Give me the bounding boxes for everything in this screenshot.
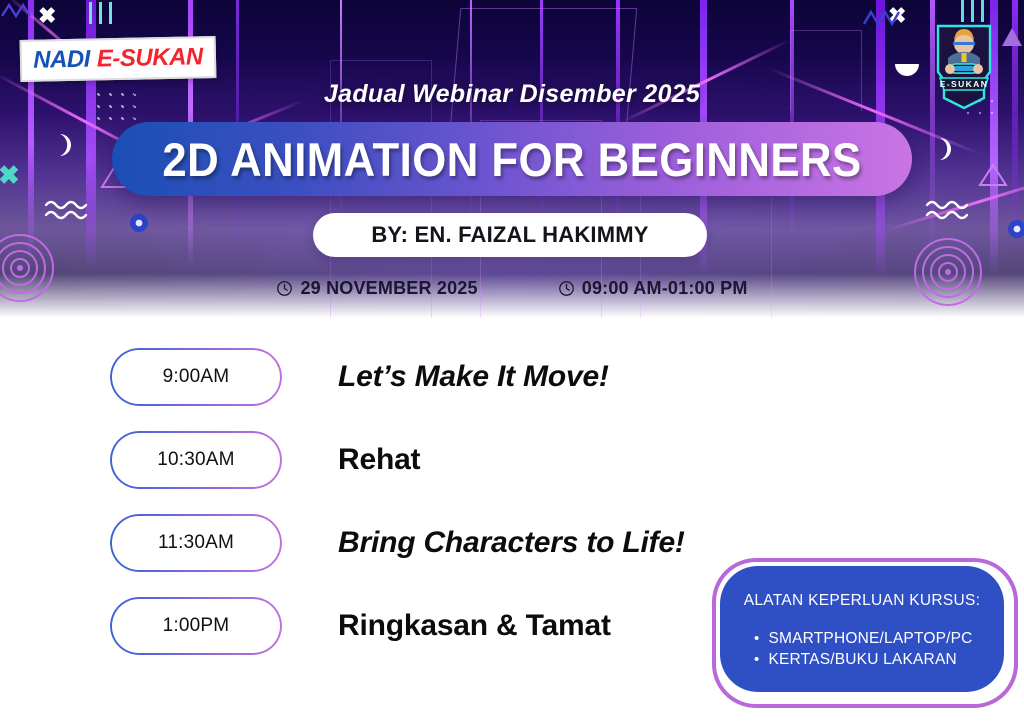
event-date: 29 NOVEMBER 2025 (276, 278, 477, 299)
esukan-mascot-icon: E-SUKAN (928, 20, 1000, 112)
crescent-icon (936, 136, 958, 167)
session-title: Let’s Make It Move! (338, 360, 609, 394)
event-meta-row: 29 NOVEMBER 2025 09:00 AM-01:00 PM (0, 278, 1024, 299)
bullet-icon: • (754, 628, 759, 649)
triangle-icon (1000, 26, 1024, 53)
time-label: 10:30AM (157, 449, 234, 471)
bars-icon (88, 2, 122, 29)
wave-lines-icon (925, 198, 977, 224)
requirements-item: • SMARTPHONE/LAPTOP/PC (754, 628, 973, 649)
requirements-item: • KERTAS/BUKU LAKARAN (754, 649, 973, 670)
logo-text-nadi: NADI (33, 46, 90, 75)
mascot-label: E-SUKAN (940, 79, 989, 89)
time-pill: 9:00AM (110, 348, 282, 406)
session-title: Rehat (338, 443, 420, 477)
logo-text-esukan: E-SUKAN (97, 43, 203, 73)
zigzag-icon (862, 6, 912, 35)
nadi-esukan-logo: NADI E-SUKAN (20, 36, 217, 82)
bullet-icon: • (754, 649, 759, 670)
session-title: Ringkasan & Tamat (338, 609, 611, 643)
requirements-box: ALATAN KEPERLUAN KURSUS: • SMARTPHONE/LA… (720, 566, 1004, 692)
wireframe-shape (450, 8, 638, 129)
time-label: 1:00PM (163, 615, 230, 637)
requirements-list: • SMARTPHONE/LAPTOP/PC • KERTAS/BUKU LAK… (754, 628, 973, 670)
clock-icon (558, 280, 575, 297)
hero-banner: ✖ ✖ (0, 0, 1024, 318)
ring-dot-icon (1006, 218, 1024, 245)
event-date-label: 29 NOVEMBER 2025 (300, 278, 477, 299)
time-pill: 1:00PM (110, 597, 282, 655)
ring-dot-icon (128, 212, 150, 239)
schedule-row: 10:30AM Rehat (110, 431, 420, 489)
requirements-item-label: KERTAS/BUKU LAKARAN (768, 649, 956, 670)
event-time: 09:00 AM-01:00 PM (558, 278, 748, 299)
event-time-label: 09:00 AM-01:00 PM (582, 278, 748, 299)
zigzag-icon (0, 0, 46, 27)
page-title: 2D ANIMATION FOR BEGINNERS (140, 122, 884, 196)
poster-canvas: ✖ ✖ (0, 0, 1024, 724)
concentric-circles-icon (912, 236, 984, 313)
clock-icon (276, 280, 293, 297)
time-pill: 11:30AM (110, 514, 282, 572)
schedule-row: 9:00AM Let’s Make It Move! (110, 348, 609, 406)
kicker-text: Jadual Webinar Disember 2025 (0, 80, 1024, 109)
wave-lines-icon (44, 198, 96, 224)
requirements-item-label: SMARTPHONE/LAPTOP/PC (768, 628, 972, 649)
schedule-row: 1:00PM Ringkasan & Tamat (110, 597, 611, 655)
requirements-title: ALATAN KEPERLUAN KURSUS: (720, 592, 1004, 610)
time-pill: 10:30AM (110, 431, 282, 489)
speaker-name: BY: EN. FAIZAL HAKIMMY (371, 222, 648, 248)
time-label: 11:30AM (158, 532, 234, 554)
session-title: Bring Characters to Life! (338, 526, 685, 560)
cross-icon: ✖ (0, 162, 20, 188)
time-label: 9:00AM (163, 366, 230, 388)
crescent-icon (56, 132, 78, 163)
speaker-pill: BY: EN. FAIZAL HAKIMMY (313, 213, 707, 257)
triangle-outline-icon (978, 162, 1008, 193)
schedule-row: 11:30AM Bring Characters to Life! (110, 514, 685, 572)
